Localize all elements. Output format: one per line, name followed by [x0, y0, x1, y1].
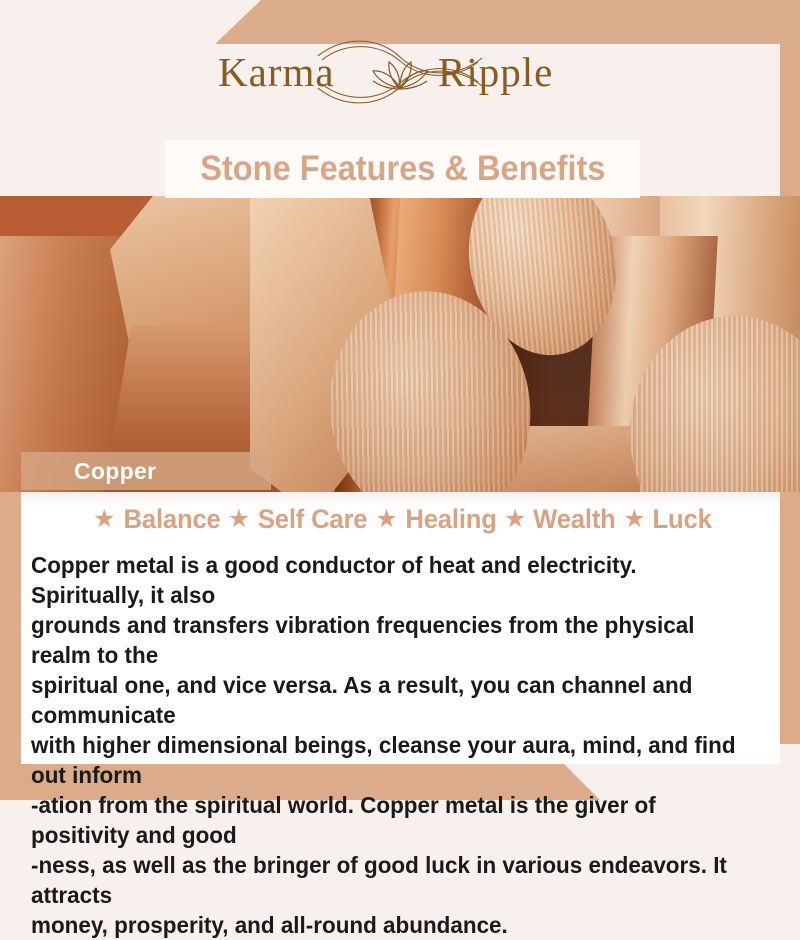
brand-logo: Karma Ripple [210, 26, 590, 118]
hero-image-copper-bars [0, 196, 800, 492]
content-panel: ★ Balance ★ Self Care ★ Healing ★ Wealth… [21, 492, 780, 764]
description-text: Copper metal is a good conductor of heat… [31, 550, 742, 940]
star-icon: ★ [504, 507, 526, 532]
stone-name-label: Copper [74, 458, 156, 485]
star-icon: ★ [93, 507, 115, 532]
description-line: spiritual one, and vice versa. As a resu… [31, 670, 742, 730]
star-icon: ★ [623, 507, 645, 532]
feature-label-wealth: Wealth [534, 504, 616, 535]
star-icon: ★ [375, 507, 397, 532]
description-line: -ness, as well as the bringer of good lu… [31, 850, 742, 910]
feature-label-self-care: Self Care [258, 504, 368, 535]
description-line: with higher dimensional beings, cleanse … [31, 730, 742, 790]
description-line: Copper metal is a good conductor of heat… [31, 550, 742, 610]
feature-label-healing: Healing [405, 504, 496, 535]
brand-name-right: Ripple [438, 49, 553, 95]
brand-header: Karma Ripple [0, 0, 800, 140]
brand-name-left: Karma [218, 49, 335, 95]
photo-shading-overlay [0, 196, 800, 492]
star-icon: ★ [228, 507, 250, 532]
description-line: -ation from the spiritual world. Copper … [31, 790, 742, 850]
page-title: Stone Features & Benefits [200, 149, 605, 189]
description-line: money, prosperity, and all-round abundan… [31, 910, 742, 940]
section-title-banner: Stone Features & Benefits [165, 140, 640, 198]
stone-name-band: Copper [21, 452, 271, 490]
features-row: ★ Balance ★ Self Care ★ Healing ★ Wealth… [21, 504, 780, 535]
feature-label-balance: Balance [123, 504, 220, 535]
feature-label-luck: Luck [652, 504, 711, 535]
description-line: grounds and transfers vibration frequenc… [31, 610, 742, 670]
